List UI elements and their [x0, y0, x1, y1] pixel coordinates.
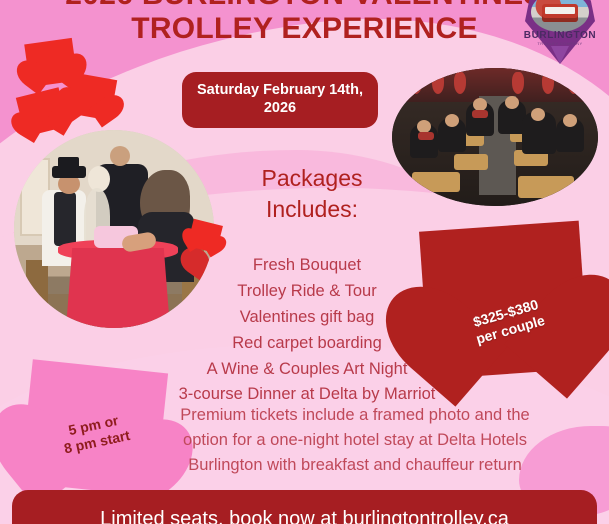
burlington-trolley-logo: BURLINGTON TROLLEY COMPANY — [519, 0, 601, 68]
packages-heading-line-1: Packages — [214, 163, 410, 194]
premium-note-line-2: option for a one-night hotel stay at Del… — [120, 428, 590, 453]
valentines-trolley-poster: 2026 BURLINGTON VALENTINES TROLLEY EXPER… — [0, 0, 609, 524]
page-title: 2026 BURLINGTON VALENTINES TROLLEY EXPER… — [0, 0, 609, 46]
heart-icon — [24, 38, 78, 87]
packages-heading-line-2: Includes: — [214, 194, 410, 225]
trolley-icon — [542, 4, 578, 22]
premium-note-line-3: Burlington with breakfast and chauffeur … — [120, 453, 590, 478]
premium-ticket-note: Premium tickets include a framed photo a… — [120, 403, 590, 477]
logo-name: BURLINGTON — [519, 30, 601, 41]
guests-inside-trolley-photo — [392, 68, 598, 206]
price-heart-badge: $325-$380 per couple — [419, 221, 589, 380]
event-date-badge: Saturday February 14th, 2026 — [182, 72, 378, 128]
bottom-cta-banner: Limited seats, book now at burlingtontro… — [12, 490, 597, 524]
logo-subtitle: TROLLEY COMPANY — [519, 41, 601, 46]
premium-note-line-1: Premium tickets include a framed photo a… — [120, 403, 590, 428]
title-line-2: TROLLEY EXPERIENCE — [0, 12, 609, 46]
title-line-1: 2026 BURLINGTON VALENTINES — [0, 0, 609, 12]
packages-heading: Packages Includes: — [214, 163, 410, 225]
